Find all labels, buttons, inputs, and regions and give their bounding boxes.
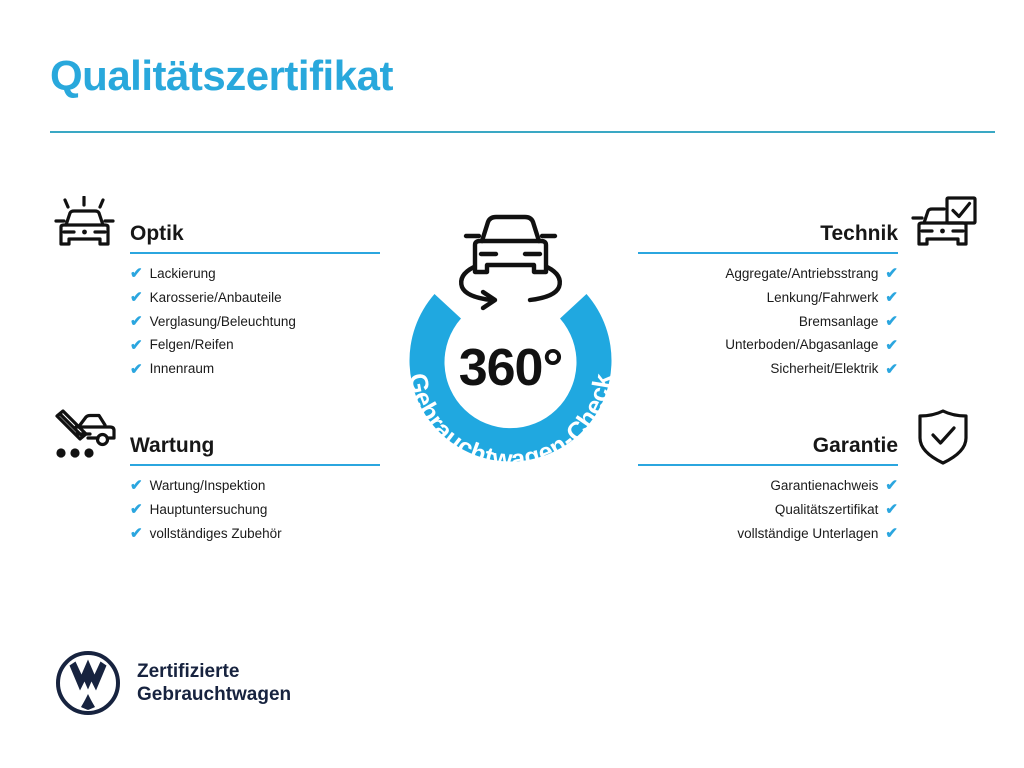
check-list-optik: ✔Lackierung ✔Karosserie/Anbauteile ✔Verg… — [130, 262, 380, 381]
check-icon: ✔ — [130, 502, 143, 517]
list-item-label: Bremsanlage — [799, 315, 879, 329]
list-item: ✔vollständiges Zubehör — [130, 522, 380, 546]
check-icon: ✔ — [130, 314, 143, 329]
check-list-garantie: Garantienachweis✔ Qualitätszertifikat✔ v… — [638, 474, 898, 545]
section-underline — [130, 252, 380, 254]
section-optik: Optik ✔Lackierung ✔Karosserie/Anbauteile… — [50, 200, 380, 381]
check-icon: ✔ — [885, 526, 898, 541]
section-underline — [130, 464, 380, 466]
list-item-label: Lackierung — [150, 267, 216, 281]
list-item: Aggregate/Antriebsstrang✔ — [638, 262, 898, 286]
car-rotation-icon — [461, 217, 560, 308]
list-item-label: Qualitätszertifikat — [775, 503, 879, 517]
section-underline — [638, 464, 898, 466]
list-item: Bremsanlage✔ — [638, 310, 898, 334]
shield-check-icon — [908, 408, 978, 466]
section-garantie: Garantie Garantienachweis✔ Qualitätszert… — [638, 412, 978, 545]
list-item: ✔Hauptuntersuchung — [130, 498, 380, 522]
badge-360-gebrauchtwagen-check: Gebrauchtwagen-Check 360° — [378, 196, 643, 496]
list-item-label: Karosserie/Anbauteile — [150, 291, 282, 305]
check-icon: ✔ — [885, 266, 898, 281]
list-item: Garantienachweis✔ — [638, 474, 898, 498]
list-item: ✔Wartung/Inspektion — [130, 474, 380, 498]
list-item-label: Lenkung/Fahrwerk — [767, 291, 879, 305]
list-item: ✔Felgen/Reifen — [130, 333, 380, 357]
list-item: Unterboden/Abgasanlage✔ — [638, 333, 898, 357]
section-title: Garantie — [813, 434, 898, 458]
section-header: Technik — [638, 200, 978, 262]
section-header: Garantie — [638, 412, 978, 474]
check-icon: ✔ — [885, 362, 898, 377]
list-item-label: vollständiges Zubehör — [150, 527, 282, 541]
section-header: Wartung — [50, 412, 380, 474]
check-icon: ✔ — [885, 502, 898, 517]
section-underline — [638, 252, 898, 254]
vw-logo-icon — [55, 650, 121, 716]
list-item-label: vollständige Unterlagen — [737, 527, 878, 541]
check-icon: ✔ — [130, 338, 143, 353]
car-checkbox-icon — [908, 196, 978, 254]
list-item: ✔Lackierung — [130, 262, 380, 286]
check-list-wartung: ✔Wartung/Inspektion ✔Hauptuntersuchung ✔… — [130, 474, 380, 545]
list-item: vollständige Unterlagen✔ — [638, 522, 898, 546]
vw-logo-text-line2: Gebrauchtwagen — [137, 683, 291, 706]
check-icon: ✔ — [885, 314, 898, 329]
car-service-pen-icon — [50, 408, 120, 466]
list-item: ✔Innenraum — [130, 357, 380, 381]
section-technik: Technik Aggregate/Antriebsstrang✔ Lenkun… — [638, 200, 978, 381]
header-divider — [50, 131, 995, 133]
check-icon: ✔ — [130, 290, 143, 305]
vw-logo-text: Zertifizierte Gebrauchtwagen — [137, 660, 291, 707]
section-title: Wartung — [130, 434, 214, 458]
list-item: ✔Verglasung/Beleuchtung — [130, 310, 380, 334]
list-item: ✔Karosserie/Anbauteile — [130, 286, 380, 310]
check-icon: ✔ — [130, 478, 143, 493]
check-icon: ✔ — [885, 338, 898, 353]
list-item-label: Wartung/Inspektion — [150, 479, 266, 493]
check-icon: ✔ — [885, 478, 898, 493]
list-item-label: Aggregate/Antriebsstrang — [725, 267, 878, 281]
vw-certified-logo: Zertifizierte Gebrauchtwagen — [55, 650, 291, 716]
list-item-label: Verglasung/Beleuchtung — [150, 315, 296, 329]
page-title: Qualitätszertifikat — [50, 52, 393, 100]
list-item-label: Felgen/Reifen — [150, 338, 234, 352]
list-item-label: Unterboden/Abgasanlage — [725, 338, 878, 352]
check-icon: ✔ — [130, 266, 143, 281]
section-header: Optik — [50, 200, 380, 262]
list-item-label: Garantienachweis — [770, 479, 878, 493]
check-list-technik: Aggregate/Antriebsstrang✔ Lenkung/Fahrwe… — [638, 262, 898, 381]
car-shine-icon — [50, 196, 120, 254]
check-icon: ✔ — [885, 290, 898, 305]
section-wartung: Wartung ✔Wartung/Inspektion ✔Hauptunters… — [50, 412, 380, 545]
section-title: Optik — [130, 222, 184, 246]
list-item: Sicherheit/Elektrik✔ — [638, 357, 898, 381]
section-title: Technik — [820, 222, 898, 246]
check-icon: ✔ — [130, 362, 143, 377]
check-icon: ✔ — [130, 526, 143, 541]
list-item: Qualitätszertifikat✔ — [638, 498, 898, 522]
list-item-label: Sicherheit/Elektrik — [770, 362, 878, 376]
list-item: Lenkung/Fahrwerk✔ — [638, 286, 898, 310]
vw-logo-text-line1: Zertifizierte — [137, 660, 291, 683]
list-item-label: Innenraum — [150, 362, 215, 376]
list-item-label: Hauptuntersuchung — [150, 503, 268, 517]
